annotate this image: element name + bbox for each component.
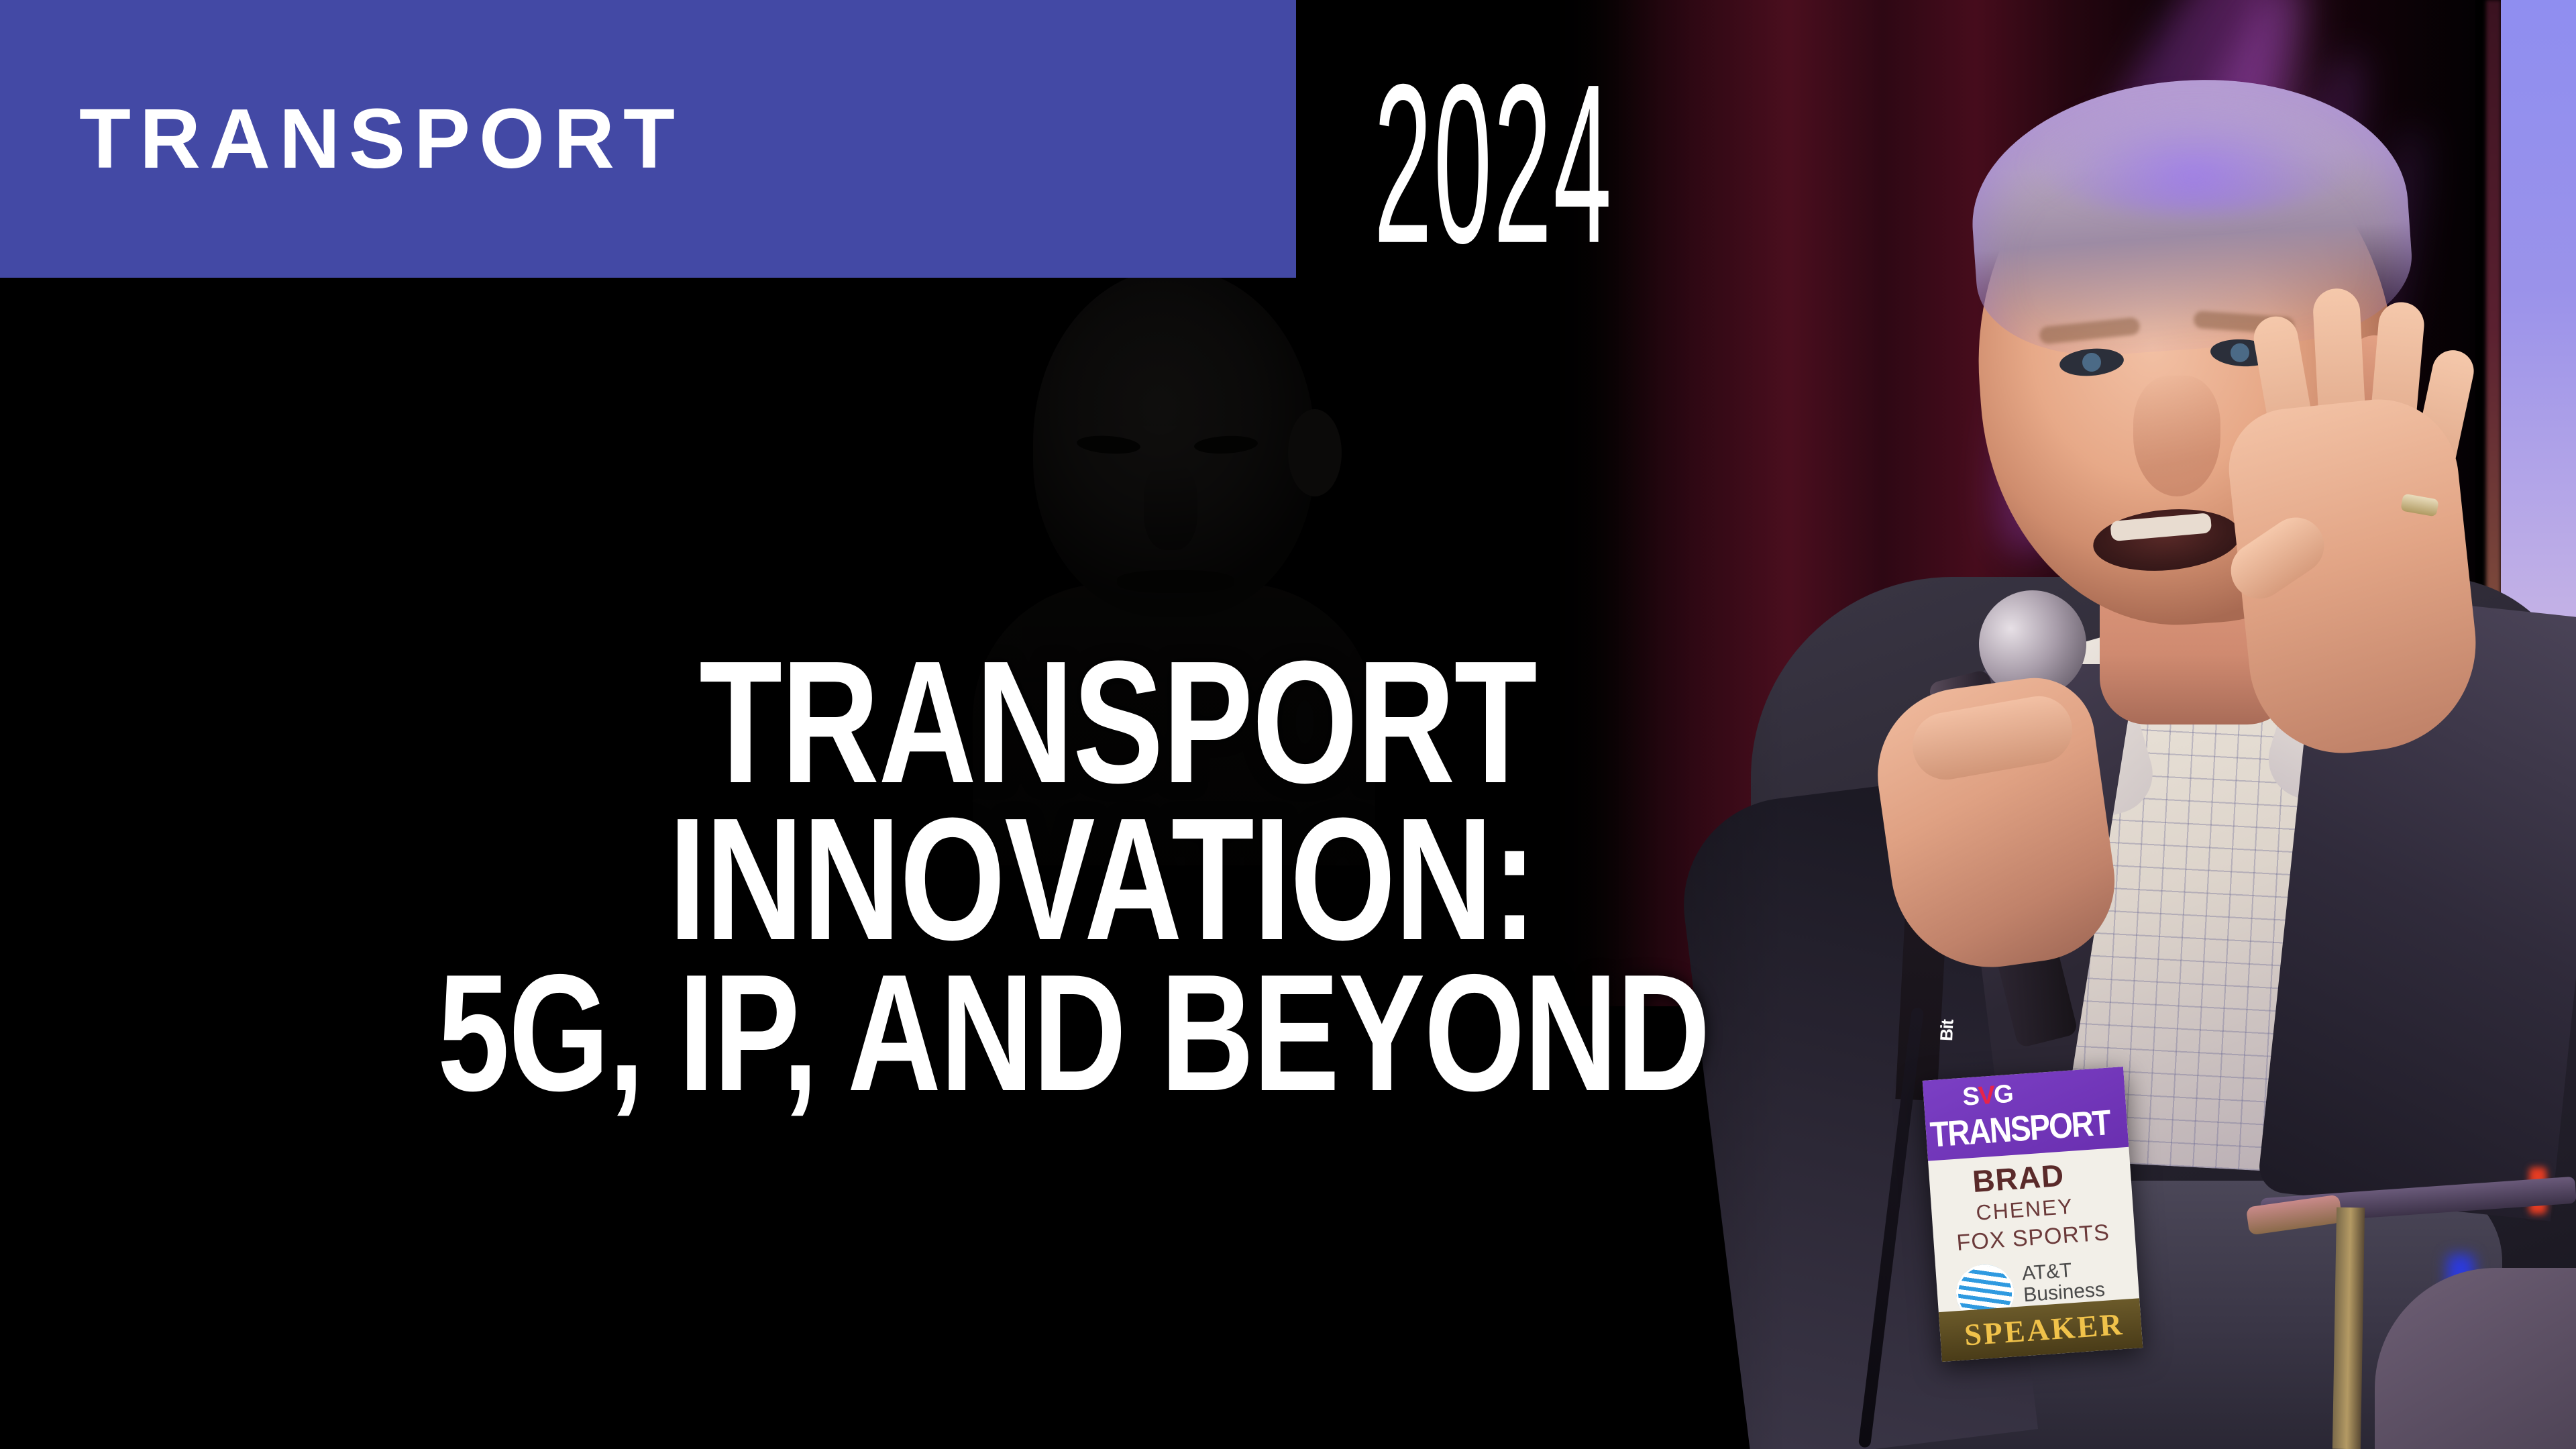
speaker-photo: Bit Fire Bit SV [1509, 0, 2576, 1449]
title-card: Bit Fire Bit SV [0, 0, 2576, 1449]
brand-banner: TRANSPORT [0, 0, 1296, 278]
title-line-1: TRANSPORT [437, 644, 1536, 801]
title-line-2: INNOVATION: [437, 801, 1536, 958]
brand-banner-label: TRANSPORT [79, 97, 684, 181]
ghost-ear [1288, 409, 1342, 496]
ghost-nose [1144, 463, 1197, 550]
ghost-head [1033, 268, 1315, 617]
photo-left-falloff [1509, 0, 2576, 1449]
session-title: TRANSPORT INNOVATION: 5G, IP, AND BEYOND [127, 644, 1536, 1108]
year-label: 2024 [1374, 51, 1613, 278]
ghost-mouth [1117, 570, 1234, 593]
title-line-3: 5G, IP, AND BEYOND [437, 958, 1536, 1108]
